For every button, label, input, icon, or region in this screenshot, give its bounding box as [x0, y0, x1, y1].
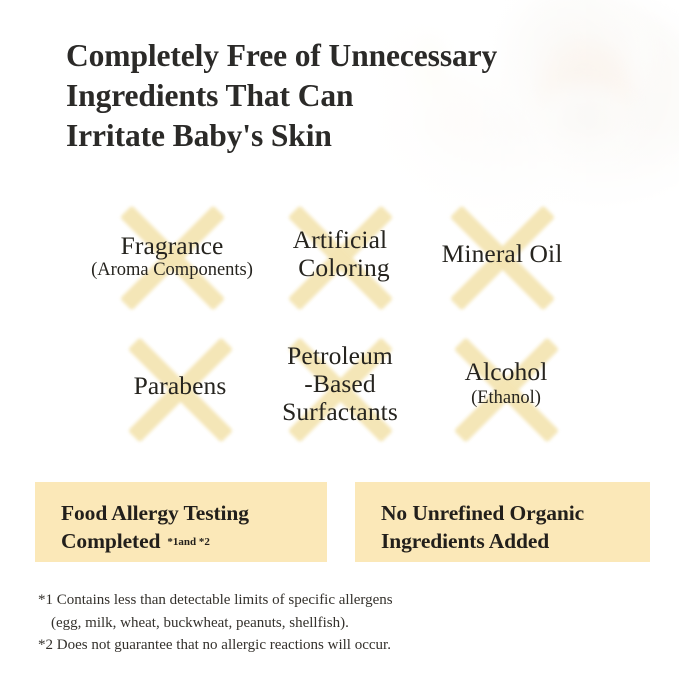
ingredient-label: Petroleum	[276, 342, 404, 371]
footnote-2: *2 Does not guarantee that no allergic r…	[38, 634, 638, 657]
ingredient-label: Fragrance	[108, 232, 236, 261]
footnote-1-cont: (egg, milk, wheat, buckwheat, peanuts, s…	[38, 612, 638, 635]
footnote-1: *1 Contains less than detectable limits …	[38, 589, 638, 612]
page-title: Completely Free of Unnecessary Ingredien…	[66, 36, 626, 156]
claim-footnote-marker: *1and *2	[167, 536, 210, 548]
claim-box-food-allergy-testing: Food Allergy Testing Completed*1and *2	[35, 482, 327, 562]
ingredient-sublabel: -Based	[276, 370, 404, 399]
claim-text: Food Allergy Testing Completed	[61, 501, 249, 553]
ingredient-sublabel: Coloring	[282, 254, 406, 283]
ingredient-label: Artificial	[280, 226, 400, 255]
ingredient-sublabel: (Ethanol)	[444, 388, 568, 409]
claim-text: No Unrefined Organic Ingredients Added	[381, 501, 584, 553]
footnotes: *1 Contains less than detectable limits …	[38, 589, 638, 657]
ingredient-label: Mineral Oil	[434, 240, 570, 269]
infographic-page: Completely Free of Unnecessary Ingredien…	[0, 0, 679, 679]
ingredient-label: Alcohol	[450, 358, 562, 387]
ingredient-sublabel: (Aroma Components)	[70, 260, 274, 281]
claim-box-no-unrefined-organic: No Unrefined Organic Ingredients Added	[355, 482, 650, 562]
ingredient-label: Parabens	[118, 372, 242, 401]
excluded-ingredients-grid: Fragrance (Aroma Components) Artificial …	[0, 196, 679, 466]
ingredient-sublabel-2: Surfactants	[266, 398, 414, 427]
